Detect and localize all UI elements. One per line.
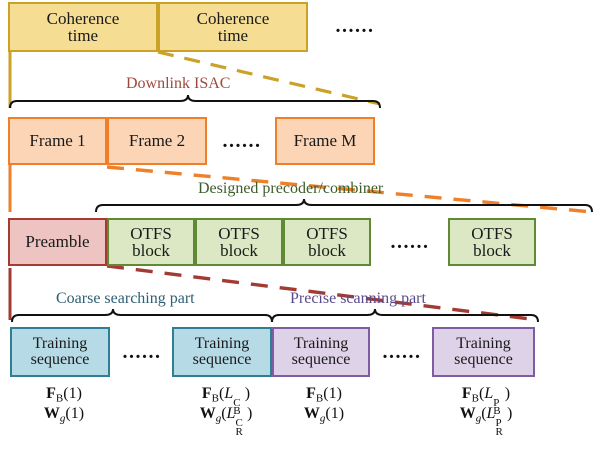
training-sequence-box-3[interactable]: Training sequence (272, 327, 370, 377)
beam-annotation-4: FB(LPB) Wg(LPR) (438, 385, 534, 426)
downlink-isac-label: Downlink ISAC (126, 75, 230, 93)
beam-annotation-1-combiner: Wg(1) (18, 405, 110, 425)
training-sequence-box-3-line2: sequence (292, 352, 351, 368)
brace-coarse-searching (12, 309, 272, 322)
training-sequence-box-2[interactable]: Training sequence (172, 327, 272, 377)
precise-scanning-label: Precise scanning part (290, 290, 426, 308)
frame-box-2[interactable]: Frame 2 (107, 117, 207, 165)
beam-annotation-4-combiner: Wg(LPR) (438, 405, 534, 425)
coherence-row-ellipsis: ...... (312, 8, 398, 44)
brace-designed-precoder (96, 199, 592, 212)
training-sequence-box-1-line1: Training (31, 336, 90, 352)
coherence-time-box-2-line1: Coherence (197, 10, 270, 27)
beam-annotation-2-combiner: Wg(LCR) (178, 405, 274, 425)
preamble-box[interactable]: Preamble (8, 218, 107, 266)
beam-annotation-1-precoder: FB(1) (18, 385, 110, 405)
brace-precise-scanning (272, 309, 538, 322)
coherence-time-box-1-line2: time (47, 27, 120, 44)
brace-downlink-isac (10, 95, 380, 108)
beam-annotation-3-precoder: FB(1) (278, 385, 370, 405)
beam-annotation-2-precoder: FB(LCB) (178, 385, 274, 405)
beam-annotation-2: FB(LCB) Wg(LCR) (178, 385, 274, 426)
otfs-block-1-line2: block (130, 242, 172, 259)
training-sequence-box-2-line1: Training (193, 336, 252, 352)
coherence-time-box-2-line2: time (197, 27, 270, 44)
otfs-row-ellipsis: ...... (374, 230, 446, 254)
frames-row-ellipsis: ...... (208, 129, 276, 153)
otfs-block-last-line2: block (471, 242, 513, 259)
training-sequence-box-2-line2: sequence (193, 352, 252, 368)
designed-precoder-label: Designed precoder/combiner (198, 180, 383, 198)
coherence-time-box-1[interactable]: Coherence time (8, 2, 158, 52)
beam-annotation-3-combiner: Wg(1) (278, 405, 370, 425)
training-sequence-box-3-line1: Training (292, 336, 351, 352)
otfs-block-3-line1: OTFS (306, 225, 348, 242)
frame-box-2-label: Frame 2 (129, 132, 185, 149)
otfs-block-1[interactable]: OTFS block (107, 218, 195, 266)
otfs-block-1-line1: OTFS (130, 225, 172, 242)
frame-structure-diagram: Coherence time Coherence time ...... Dow… (0, 0, 608, 476)
training-sequence-box-4[interactable]: Training sequence (432, 327, 535, 377)
otfs-block-3[interactable]: OTFS block (283, 218, 371, 266)
frame-box-1-label: Frame 1 (29, 132, 85, 149)
training-row-ellipsis-left: ...... (112, 340, 172, 364)
training-sequence-box-4-line1: Training (454, 336, 513, 352)
otfs-block-2-line1: OTFS (218, 225, 260, 242)
training-sequence-box-4-line2: sequence (454, 352, 513, 368)
frame-box-m-label: Frame M (294, 132, 357, 149)
training-sequence-box-1[interactable]: Training sequence (10, 327, 110, 377)
coherence-time-box-1-line1: Coherence (47, 10, 120, 27)
otfs-block-2-line2: block (218, 242, 260, 259)
otfs-block-last-line1: OTFS (471, 225, 513, 242)
preamble-label: Preamble (25, 233, 89, 250)
otfs-block-last[interactable]: OTFS block (448, 218, 536, 266)
coarse-searching-label: Coarse searching part (56, 290, 195, 308)
frame-box-1[interactable]: Frame 1 (8, 117, 107, 165)
beam-annotation-4-precoder: FB(LPB) (438, 385, 534, 405)
beam-annotation-3: FB(1) Wg(1) (278, 385, 370, 426)
otfs-block-2[interactable]: OTFS block (195, 218, 283, 266)
beam-annotation-1: FB(1) Wg(1) (18, 385, 110, 426)
training-sequence-box-1-line2: sequence (31, 352, 90, 368)
training-row-ellipsis-right: ...... (372, 340, 432, 364)
otfs-block-3-line2: block (306, 242, 348, 259)
frame-box-m[interactable]: Frame M (275, 117, 375, 165)
coherence-time-box-2[interactable]: Coherence time (158, 2, 308, 52)
